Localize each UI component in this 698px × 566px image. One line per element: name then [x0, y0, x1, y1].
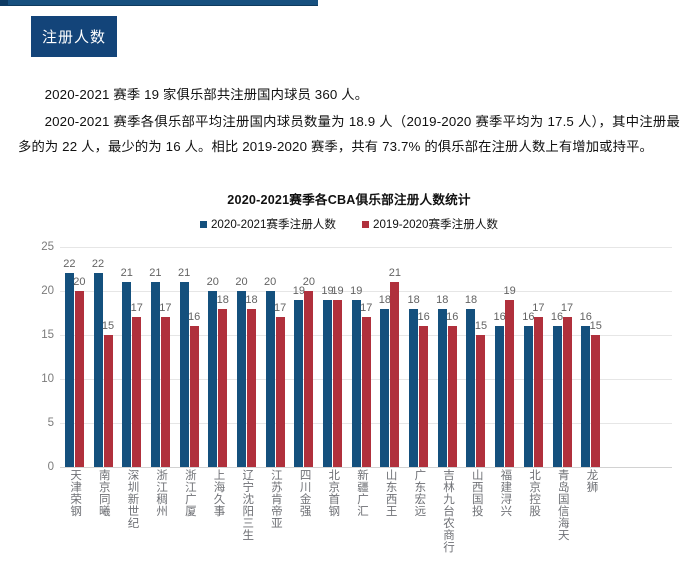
- bar-value-label: 15: [475, 320, 487, 332]
- bar-group[interactable]: 1816: [404, 247, 433, 467]
- bar-value-label: 15: [102, 320, 114, 332]
- bar-series-1[interactable]: 20: [237, 291, 246, 467]
- bar-series-2[interactable]: 15: [104, 335, 113, 467]
- x-axis-label-text: 上海久事: [212, 469, 224, 565]
- bar-series-2[interactable]: 17: [276, 317, 285, 467]
- bar-group[interactable]: 2018: [232, 247, 261, 467]
- x-axis-label: 山西国投: [462, 469, 491, 565]
- bar-series-2[interactable]: 18: [247, 309, 256, 467]
- prose-body: 2020-2021 赛季 19 家俱乐部共注册国内球员 360 人。 2020-…: [18, 82, 680, 161]
- x-axis-label-text: 山东西王: [384, 469, 396, 565]
- bar-value-label: 18: [465, 294, 477, 306]
- paragraph-1: 2020-2021 赛季 19 家俱乐部共注册国内球员 360 人。: [18, 82, 680, 107]
- bar-series-2[interactable]: 19: [505, 300, 514, 467]
- x-axis-label-text: 青岛国信海天: [556, 469, 568, 565]
- chart-title: 2020-2021赛季各CBA俱乐部注册人数统计: [0, 186, 698, 208]
- x-axis-label: 辽宁沈阳三生: [232, 469, 261, 565]
- bar-series-1[interactable]: 18: [409, 309, 418, 467]
- x-axis-label: 福建浔兴: [490, 469, 519, 565]
- bar-value-label: 18: [217, 294, 229, 306]
- x-axis-label-text: 北京控股: [528, 469, 540, 565]
- bar-series-1[interactable]: 16: [495, 326, 504, 467]
- y-axis-tick-5: 5: [28, 417, 54, 429]
- y-axis-tick-10: 10: [28, 373, 54, 385]
- bar-value-label: 21: [149, 267, 161, 279]
- bar-series-2[interactable]: 17: [161, 317, 170, 467]
- bar-value-label: 18: [407, 294, 419, 306]
- bar-series-1[interactable]: 16: [524, 326, 533, 467]
- bar-series-1[interactable]: 20: [266, 291, 275, 467]
- bar-series-1[interactable]: 16: [553, 326, 562, 467]
- legend-swatch-series-1: [200, 221, 207, 228]
- x-axis-label-text: 广东宏远: [413, 469, 425, 565]
- section-badge: 注册人数: [31, 16, 117, 57]
- x-axis-label: 浙江广厦: [175, 469, 204, 565]
- x-axis-label: 江苏肯帝亚: [261, 469, 290, 565]
- bar-series-1[interactable]: 22: [94, 273, 103, 467]
- bar-value-label: 22: [92, 258, 104, 270]
- bar-value-label: 21: [121, 267, 133, 279]
- bar-series-1[interactable]: 19: [323, 300, 332, 467]
- x-axis-label: 青岛国信海天: [548, 469, 577, 565]
- section-badge-label: 注册人数: [42, 26, 106, 47]
- bar-value-label: 20: [235, 276, 247, 288]
- bar-series-2[interactable]: 17: [362, 317, 371, 467]
- bar-series-2[interactable]: 16: [419, 326, 428, 467]
- bar-series-1[interactable]: 18: [466, 309, 475, 467]
- gridline-0: [60, 467, 672, 468]
- bar-series-2[interactable]: 20: [75, 291, 84, 467]
- top-divider-cap: [0, 0, 8, 6]
- bar-value-label: 18: [245, 294, 257, 306]
- legend-swatch-series-2: [362, 221, 369, 228]
- chart-plot-area: 0510152025 22202215211721172116201820182…: [0, 247, 698, 467]
- bar-value-label: 19: [350, 285, 362, 297]
- bar-value-label: 16: [494, 311, 506, 323]
- x-axis-label-text: 吉林九台农商行: [442, 469, 454, 565]
- bar-value-label: 20: [264, 276, 276, 288]
- x-axis-label: 广东宏远: [404, 469, 433, 565]
- x-axis-label: 山东西王: [376, 469, 405, 565]
- x-axis-label: 浙江稠州: [146, 469, 175, 565]
- x-axis-label-text: 四川金强: [298, 469, 310, 565]
- x-axis-label: 北京控股: [519, 469, 548, 565]
- bar-group[interactable]: 2017: [261, 247, 290, 467]
- bar-group[interactable]: 1815: [462, 247, 491, 467]
- bar-group[interactable]: 1920: [290, 247, 319, 467]
- bar-group[interactable]: 1917: [347, 247, 376, 467]
- top-divider-rule: [0, 0, 318, 6]
- bar-series-1[interactable]: 16: [581, 326, 590, 467]
- bar-series-2[interactable]: 15: [476, 335, 485, 467]
- bar-value-label: 22: [63, 258, 75, 270]
- bar-value-label: 17: [159, 302, 171, 314]
- bar-series-2[interactable]: 17: [132, 317, 141, 467]
- bar-series-1[interactable]: 19: [352, 300, 361, 467]
- bar-value-label: 17: [274, 302, 286, 314]
- bar-series-2[interactable]: 17: [563, 317, 572, 467]
- x-axis-label-text: 深圳新世纪: [126, 469, 138, 565]
- bar-value-label: 16: [188, 311, 200, 323]
- bar-series-1[interactable]: 21: [180, 282, 189, 467]
- bar-value-label: 20: [73, 276, 85, 288]
- bar-value-label: 16: [446, 311, 458, 323]
- chart-y-axis: 0510152025: [28, 247, 54, 467]
- bar-group[interactable]: 1919: [318, 247, 347, 467]
- x-axis-label: 吉林九台农商行: [433, 469, 462, 565]
- x-axis-label-text: 北京首钢: [327, 469, 339, 565]
- bar-value-label: 19: [331, 285, 343, 297]
- bar-value-label: 18: [379, 294, 391, 306]
- x-axis-label-text: 浙江稠州: [155, 469, 167, 565]
- bar-value-label: 21: [389, 267, 401, 279]
- bar-value-label: 15: [590, 320, 602, 332]
- bar-value-label: 21: [178, 267, 190, 279]
- x-axis-label: 天津荣钢: [60, 469, 89, 565]
- bar-group[interactable]: 1617: [548, 247, 577, 467]
- bar-group[interactable]: 2215: [89, 247, 118, 467]
- bar-series-2[interactable]: 19: [333, 300, 342, 467]
- x-axis-label: 深圳新世纪: [117, 469, 146, 565]
- bar-series-2[interactable]: 21: [390, 282, 399, 467]
- legend-label-series-2: 2019-2020赛季注册人数: [373, 216, 498, 232]
- bar-group[interactable]: 2117: [117, 247, 146, 467]
- bar-series-1[interactable]: 20: [208, 291, 217, 467]
- bar-group[interactable]: 2018: [203, 247, 232, 467]
- bar-series-2[interactable]: 18: [218, 309, 227, 467]
- bar-value-label: 17: [561, 302, 573, 314]
- bar-value-label: 17: [131, 302, 143, 314]
- y-axis-tick-25: 25: [28, 241, 54, 253]
- x-axis-label-text: 辽宁沈阳三生: [241, 469, 253, 565]
- legend-item-series-2: 2019-2020赛季注册人数: [362, 216, 498, 232]
- x-axis-label-text: 龙狮: [585, 469, 597, 565]
- bar-group[interactable]: 2116: [175, 247, 204, 467]
- x-axis-label: 四川金强: [290, 469, 319, 565]
- bar-value-label: 20: [303, 276, 315, 288]
- bar-series-2[interactable]: 16: [448, 326, 457, 467]
- x-axis-label: 上海久事: [203, 469, 232, 565]
- bar-group[interactable]: 1617: [519, 247, 548, 467]
- x-axis-label: 南京同曦: [89, 469, 118, 565]
- bar-chart: 2020-2021赛季各CBA俱乐部注册人数统计 2020-2021赛季注册人数…: [0, 186, 698, 566]
- bar-group[interactable]: 1816: [433, 247, 462, 467]
- y-axis-tick-15: 15: [28, 329, 54, 341]
- bar-series-2[interactable]: 15: [591, 335, 600, 467]
- bar-group[interactable]: 2220: [60, 247, 89, 467]
- x-axis-label-text: 福建浔兴: [499, 469, 511, 565]
- bar-series-1[interactable]: 19: [294, 300, 303, 467]
- paragraph-2: 2020-2021 赛季各俱乐部平均注册国内球员数量为 18.9 人（2019-…: [18, 109, 680, 159]
- y-axis-tick-0: 0: [28, 461, 54, 473]
- bar-value-label: 20: [207, 276, 219, 288]
- bar-group[interactable]: 1615: [576, 247, 605, 467]
- x-axis-label: 龙狮: [576, 469, 605, 565]
- x-axis-label: 北京首钢: [318, 469, 347, 565]
- x-axis-label-text: 江苏肯帝亚: [269, 469, 281, 565]
- legend-item-series-1: 2020-2021赛季注册人数: [200, 216, 336, 232]
- bar-value-label: 16: [417, 311, 429, 323]
- y-axis-tick-20: 20: [28, 285, 54, 297]
- bar-series-2[interactable]: 16: [190, 326, 199, 467]
- bar-group[interactable]: 2117: [146, 247, 175, 467]
- x-axis-label-text: 天津荣钢: [69, 469, 81, 565]
- bar-value-label: 17: [532, 302, 544, 314]
- bar-series-2[interactable]: 17: [534, 317, 543, 467]
- x-axis-label-text: 新疆广汇: [355, 469, 367, 565]
- bar-group[interactable]: 1821: [376, 247, 405, 467]
- chart-legend: 2020-2021赛季注册人数 2019-2020赛季注册人数: [0, 216, 698, 232]
- x-axis-label: 新疆广汇: [347, 469, 376, 565]
- bar-value-label: 18: [436, 294, 448, 306]
- x-axis-label-text: 浙江广厦: [183, 469, 195, 565]
- bar-value-label: 17: [360, 302, 372, 314]
- bar-series-1[interactable]: 22: [65, 273, 74, 467]
- legend-label-series-1: 2020-2021赛季注册人数: [211, 216, 336, 232]
- bar-series-1[interactable]: 18: [380, 309, 389, 467]
- bar-group[interactable]: 1619: [490, 247, 519, 467]
- chart-x-axis-labels: 天津荣钢南京同曦深圳新世纪浙江稠州浙江广厦上海久事辽宁沈阳三生江苏肯帝亚四川金强…: [60, 469, 672, 565]
- bar-value-label: 19: [504, 285, 516, 297]
- bar-series-2[interactable]: 20: [304, 291, 313, 467]
- x-axis-label-text: 山西国投: [470, 469, 482, 565]
- x-axis-label-text: 南京同曦: [97, 469, 109, 565]
- bar-series-1[interactable]: 18: [438, 309, 447, 467]
- chart-bar-groups: 2220221521172117211620182018201719201919…: [60, 247, 672, 467]
